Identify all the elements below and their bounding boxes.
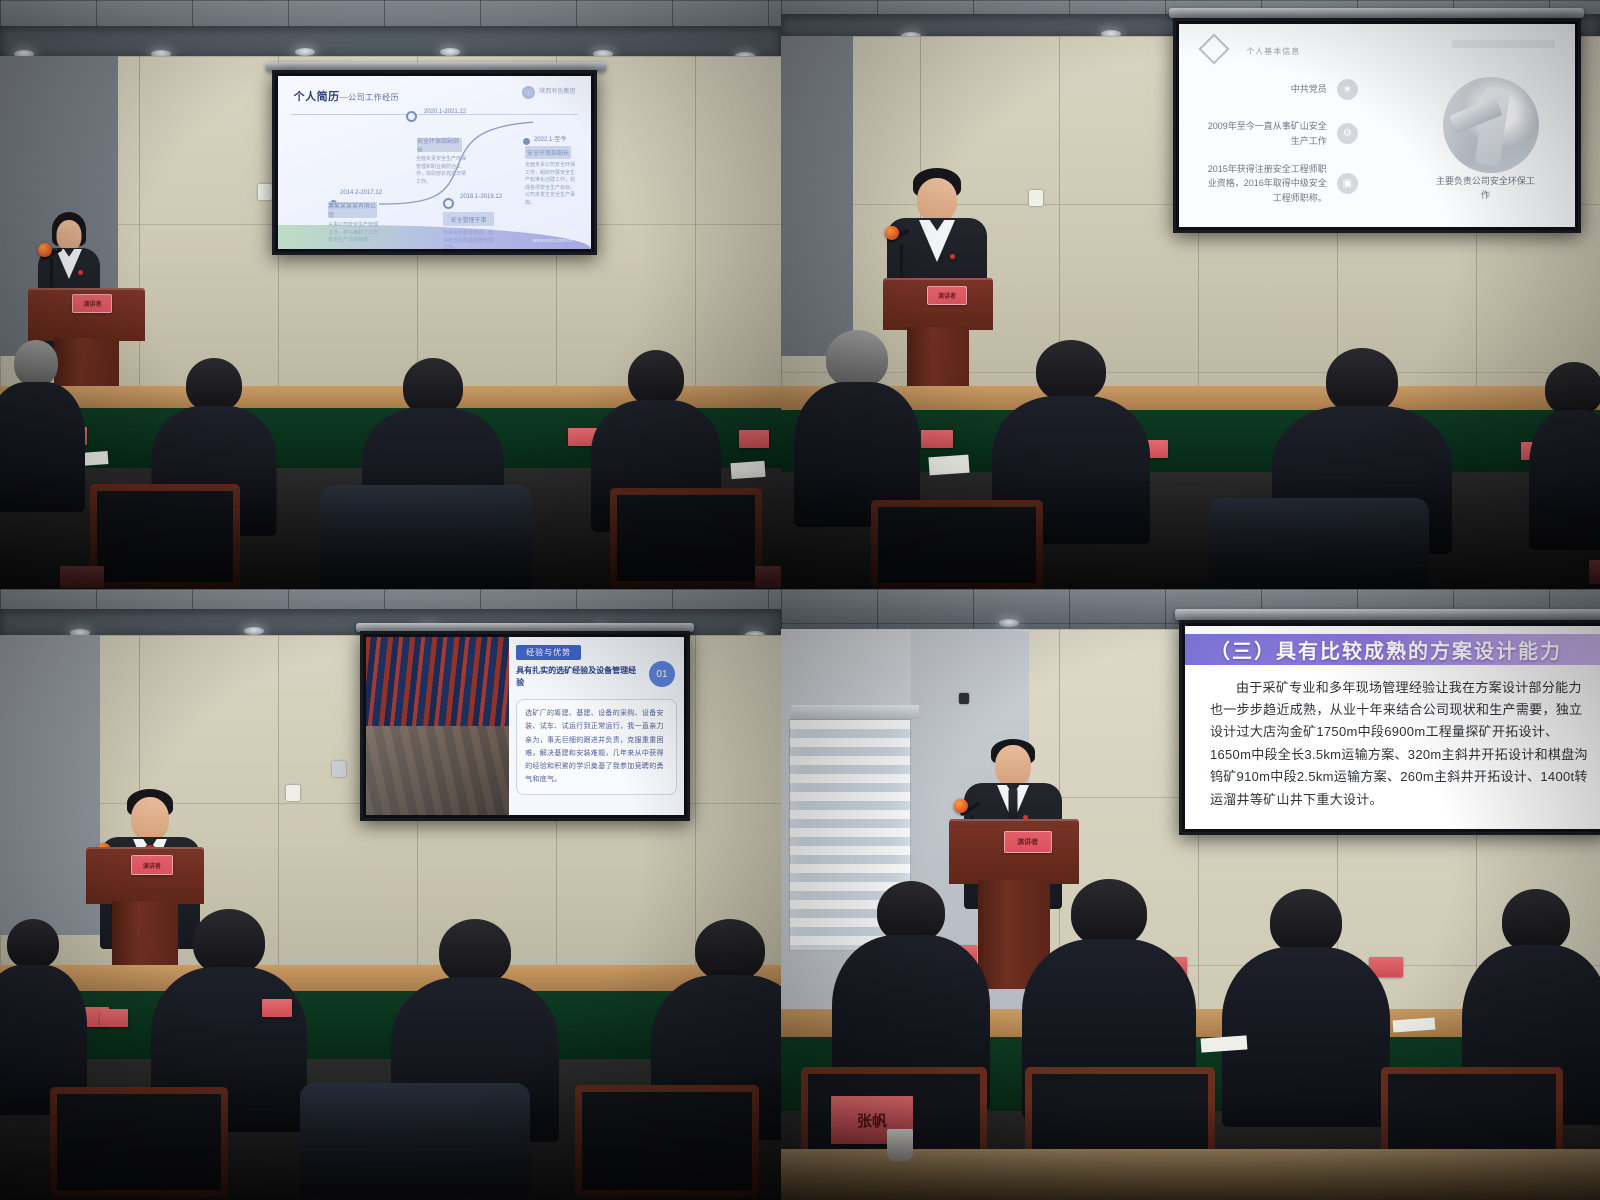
slide-photo-team bbox=[366, 637, 509, 726]
attendee-head bbox=[1326, 348, 1398, 414]
foreground-shadow bbox=[781, 1100, 1600, 1200]
projection-screen: 个人简历—公司工作经历 陕西有色集团 2020.1-2021.12 安全环保部副… bbox=[272, 70, 597, 255]
slide-photo-worksite bbox=[366, 726, 509, 815]
attendee-head bbox=[877, 881, 945, 943]
attendee-head bbox=[193, 909, 265, 975]
projection-screen: 经验与优势 具有扎实的选矿经验及设备管理经验 01 选矿厂的筹建、基建、设备的采… bbox=[360, 631, 690, 821]
slide-profile: 个人基本信息 中共党员 ★ 2009年至今一直从事矿山安全生产工作 ⚙ 2015… bbox=[1179, 24, 1575, 227]
table-namecard bbox=[100, 1009, 128, 1027]
side-wall bbox=[0, 635, 100, 935]
profile-bullet: 2015年获得注册安全工程师职业资格，2016年取得中级安全工程师职称。 ▣ bbox=[1199, 162, 1358, 205]
speaker-head bbox=[57, 220, 82, 251]
attendee-head bbox=[695, 919, 765, 981]
foreground-shadow bbox=[0, 469, 781, 589]
projection-screen: （三）具有比较成熟的方案设计能力 由于采矿专业和多年现场管理经验让我在方案设计部… bbox=[1179, 620, 1600, 835]
ceiling-soffit bbox=[0, 26, 781, 56]
lapel-badge-icon bbox=[950, 254, 955, 259]
side-wall bbox=[781, 36, 853, 356]
party-emblem-icon: ★ bbox=[1337, 79, 1358, 100]
panel-bottom-left: 经验与优势 具有扎实的选矿经验及设备管理经验 01 选矿厂的筹建、基建、设备的采… bbox=[0, 589, 781, 1200]
power-outlet-icon bbox=[1029, 190, 1043, 206]
speaker-head bbox=[917, 178, 957, 222]
podium-nameplate: 演讲者 bbox=[1004, 831, 1052, 853]
attendee-head bbox=[439, 919, 511, 985]
table-namecard bbox=[921, 430, 953, 448]
slide-badge: 01 bbox=[649, 661, 675, 687]
slide-experience: 经验与优势 具有扎实的选矿经验及设备管理经验 01 选矿厂的筹建、基建、设备的采… bbox=[366, 637, 684, 815]
podium-nameplate: 演讲者 bbox=[72, 294, 112, 313]
attendee bbox=[1, 345, 37, 385]
microphone-icon bbox=[885, 226, 899, 240]
wall-sensor-icon bbox=[959, 693, 969, 704]
photo-collage: 个人简历—公司工作经历 陕西有色集团 2020.1-2021.12 安全环保部副… bbox=[0, 0, 1600, 1200]
downlight-icon bbox=[244, 627, 264, 635]
slide-lead: 具有扎实的选矿经验及设备管理经验 bbox=[516, 665, 641, 689]
power-outlet-icon bbox=[286, 785, 300, 801]
slide-text: （三）具有比较成熟的方案设计能力 由于采矿专业和多年现场管理经验让我在方案设计部… bbox=[1185, 626, 1600, 829]
attendee-head bbox=[186, 358, 242, 412]
slide-timeline: 个人简历—公司工作经历 陕西有色集团 2020.1-2021.12 安全环保部副… bbox=[278, 76, 591, 249]
attendee bbox=[1021, 879, 1197, 1094]
profile-bullet: 2009年至今一直从事矿山安全生产工作 ⚙ bbox=[1199, 119, 1358, 148]
gear-icon: ⚙ bbox=[1337, 123, 1358, 144]
slide-header-bar bbox=[1452, 40, 1555, 48]
photo-caption: 主要负责公司安全环保工作 bbox=[1435, 174, 1535, 203]
podium-nameplate: 演讲者 bbox=[131, 855, 173, 875]
slide-title: 个人基本信息 bbox=[1246, 46, 1300, 57]
attendee-head bbox=[628, 350, 684, 406]
table-namecard bbox=[262, 999, 292, 1017]
foreground-shadow bbox=[0, 1060, 781, 1200]
attendee bbox=[831, 881, 991, 1091]
slide-paragraph: 选矿厂的筹建、基建、设备的采购、设备安装、试车、试运行到正常运行，我一直亲力亲为… bbox=[516, 699, 677, 795]
slide-banner-title: （三）具有比较成熟的方案设计能力 bbox=[1185, 635, 1562, 664]
speaker-head bbox=[131, 797, 169, 841]
profile-bullet: 中共党员 ★ bbox=[1199, 79, 1358, 100]
downlight-icon bbox=[999, 619, 1019, 627]
timeline-node bbox=[406, 111, 417, 122]
attendee-head bbox=[1270, 889, 1342, 955]
microphone-icon bbox=[38, 243, 52, 257]
microphone-icon bbox=[954, 799, 968, 813]
timeline-node bbox=[523, 138, 530, 145]
power-outlet-icon bbox=[258, 184, 272, 200]
attendee-head bbox=[1502, 889, 1570, 953]
attendee-head bbox=[826, 330, 888, 388]
attendee-head bbox=[7, 919, 59, 969]
diamond-icon bbox=[1198, 34, 1229, 65]
profile-photo bbox=[1443, 77, 1539, 173]
foreground-shadow bbox=[781, 469, 1600, 589]
speaker-head bbox=[995, 745, 1031, 787]
panel-top-left: 个人简历—公司工作经历 陕西有色集团 2020.1-2021.12 安全环保部副… bbox=[0, 0, 781, 589]
slide-photos bbox=[366, 637, 509, 815]
slide-paragraph: 由于采矿专业和多年现场管理经验让我在方案设计部分能力也一步步趋近成熟，从业十年来… bbox=[1210, 677, 1589, 811]
attendee-head bbox=[1545, 362, 1600, 416]
wall-switch-icon bbox=[332, 761, 346, 777]
attendee bbox=[1221, 889, 1391, 1104]
projection-screen: 个人基本信息 中共党员 ★ 2009年至今一直从事矿山安全生产工作 ⚙ 2015… bbox=[1173, 18, 1581, 233]
attendee-head bbox=[1071, 879, 1147, 947]
timeline-node bbox=[443, 198, 454, 209]
downlight-icon bbox=[295, 48, 315, 56]
projector-screen-case bbox=[1175, 609, 1600, 620]
window-blinds-headrail bbox=[791, 705, 919, 719]
slide-body: 经验与优势 具有扎实的选矿经验及设备管理经验 01 选矿厂的筹建、基建、设备的采… bbox=[509, 637, 684, 815]
podium-nameplate: 演讲者 bbox=[927, 286, 967, 305]
slide-banner: （三）具有比较成熟的方案设计能力 bbox=[1185, 634, 1600, 664]
panel-top-right: 个人基本信息 中共党员 ★ 2009年至今一直从事矿山安全生产工作 ⚙ 2015… bbox=[781, 0, 1600, 589]
downlight-icon bbox=[440, 48, 460, 56]
certificate-icon: ▣ bbox=[1337, 173, 1358, 194]
attendee-head bbox=[1036, 340, 1106, 402]
slide-tagline: 经验与优势 bbox=[516, 645, 581, 660]
projector-screen-case bbox=[1169, 8, 1584, 18]
panel-bottom-right: （三）具有比较成熟的方案设计能力 由于采矿专业和多年现场管理经验让我在方案设计部… bbox=[781, 589, 1600, 1200]
lapel-badge-icon bbox=[78, 270, 83, 275]
table-namecard bbox=[739, 430, 769, 448]
